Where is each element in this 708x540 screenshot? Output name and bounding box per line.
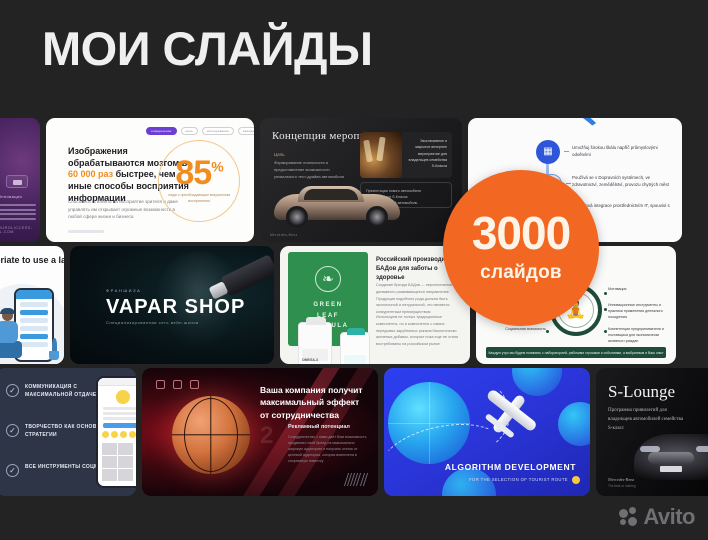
perception-stat-slide[interactable]: определение цель исследование выводы Изо… <box>46 118 254 242</box>
concept-goal-text: Формирование лояльности и предоставление… <box>274 160 348 180</box>
czech-text-2: Používá se v Dopravních systémech, ve zd… <box>572 174 676 189</box>
green-body-1: Создание бренда БАДов — перспективное и … <box>376 282 464 316</box>
smm-checklist-slide[interactable]: ✓ КОММУНИКАЦИЯ С МАКСИМАЛЬНОЙ ОТДАЧЕЙ ✓ … <box>0 368 136 496</box>
algorithm-development-slide[interactable]: ALGORITHM DEVELOPMENT FOR THE SELECTION … <box>384 368 590 496</box>
stripes-decoration <box>346 473 366 486</box>
bottle-1-label: OMEGA-3 <box>302 358 318 362</box>
slides-row-2: appropriate to use a large ent of ve ФРА… <box>0 246 708 364</box>
event-concept-slide[interactable]: Концепция мероприятия Цель Формирование … <box>260 118 462 242</box>
pill-conclusions[interactable]: выводы <box>238 127 254 135</box>
avito-dots-icon <box>619 507 639 527</box>
slides-count-badge: 3000 слайдов <box>443 170 599 326</box>
czech-text-1: Umožňuj širokou škálu napříč průmyslovým… <box>572 144 676 159</box>
stat-ring: 85% люди с преобладающим визуальным восп… <box>158 140 240 222</box>
vk-icon[interactable] <box>173 380 182 389</box>
check-circle-icon: ✓ <box>6 464 19 477</box>
lounge-subtitle: Программа привилегий для владельцев авто… <box>608 406 686 433</box>
pill-definition[interactable]: определение <box>146 127 177 135</box>
sponsorship-heading: Ваша компания получит максимальный эффек… <box>260 384 370 421</box>
facebook-icon[interactable] <box>190 380 199 389</box>
leaf-icon <box>315 266 341 292</box>
concept-card-text: Эксклюзивное и закрытое вечернее меропри… <box>402 132 452 178</box>
vapar-kicker: ФРАНШИЗА <box>106 288 141 293</box>
algorithm-title: ALGORITHM DEVELOPMENT <box>445 462 576 472</box>
plant-icon <box>46 334 62 360</box>
page-title: МОИ СЛАЙДЫ <box>42 25 373 72</box>
avito-watermark: Avito <box>619 504 695 530</box>
mercedes-car-image <box>268 184 406 230</box>
section-number: 2 <box>260 424 273 448</box>
study-footer: Каждую утро мы будем понимать с лаборато… <box>486 347 666 358</box>
mercedes-front-image <box>634 434 708 480</box>
pill-research[interactable]: исследование <box>202 127 234 135</box>
concept-goal-label: Цель <box>274 152 348 157</box>
slides-grid: ны ми Инновации OUROLICCESS-IL.COM опред… <box>0 118 708 500</box>
mobile-illustration-slide[interactable]: appropriate to use a large ent of ve <box>0 246 64 364</box>
concept-goal-box: Цель Формирование лояльности и предостав… <box>274 152 348 180</box>
vapar-shop-slide[interactable]: ФРАНШИЗА VAPAR SHOP Специализированная с… <box>70 246 274 364</box>
stat-caption: люди с преобладающим визуальным восприят… <box>159 193 239 204</box>
factory-icon: ▦ <box>536 140 560 164</box>
section-title: Рекламный потенциал <box>288 424 350 430</box>
perception-footer-bar <box>68 230 104 233</box>
check-circle-icon: ✓ <box>6 384 19 397</box>
lounge-title: S-Lounge <box>608 382 675 402</box>
green-body-2: Используем не только традиционные компон… <box>376 314 464 348</box>
s-lounge-slide[interactable]: S-Lounge Программа привилегий для владел… <box>596 368 708 496</box>
sponsorship-effect-slide[interactable]: Ваша компания получит максимальный эффек… <box>142 368 378 496</box>
purple-gradient-slide[interactable]: ны ми Инновации OUROLICCESS-IL.COM <box>0 118 40 242</box>
vapar-title: VAPAR SHOP <box>106 296 245 319</box>
concept-brand: Mercedes-Benz <box>270 233 298 237</box>
green-leaf-formula-slide[interactable]: GREEN LEAF FORMULA Российский производит… <box>280 246 470 364</box>
avito-wordmark: Avito <box>643 504 695 530</box>
slides-row-1: ны ми Инновации OUROLICCESS-IL.COM опред… <box>0 118 708 242</box>
algorithm-subtitle: FOR THE SELECTION OF TOURIST ROUTE <box>469 477 568 482</box>
mobile-heading: appropriate to use a large <box>0 255 64 266</box>
study-left-3: Социальная значимость <box>482 326 546 332</box>
card-icon <box>6 175 28 188</box>
study-right-1: Мотивация <box>608 286 670 292</box>
stat-number: 85% <box>175 158 222 189</box>
purple-slide-subtitle: Инновации <box>0 194 22 199</box>
purple-slide-url: OUROLICCESS-IL.COM <box>0 226 40 234</box>
person-illustration <box>0 310 28 362</box>
pill-goal[interactable]: цель <box>181 127 198 135</box>
lounge-brand-tagline: The best or nothing <box>608 484 635 488</box>
concept-photo-card: Эксклюзивное и закрытое вечернее меропри… <box>360 132 452 178</box>
basketball-image <box>172 396 250 474</box>
smartphone-mockup <box>96 376 136 488</box>
section-body: Сотрудничество с нами даёт Вам возможнос… <box>288 434 370 465</box>
celebration-photo <box>360 132 402 178</box>
badge-caption: слайдов <box>480 262 562 284</box>
supplement-bottle-2 <box>340 332 370 364</box>
nav-pills: определение цель исследование выводы <box>146 127 254 135</box>
accent-dot <box>572 476 580 484</box>
purple-slide-text-lines <box>0 204 36 222</box>
vapar-subtitle: Специализированная сеть вейп-шопов <box>106 320 199 325</box>
check-circle-icon: ✓ <box>6 424 19 437</box>
slides-row-3: ✓ КОММУНИКАЦИЯ С МАКСИМАЛЬНОЙ ОТДАЧЕЙ ✓ … <box>0 368 708 496</box>
badge-number: 3000 <box>472 212 570 256</box>
slides-promo-page: МОИ СЛАЙДЫ ны ми Инновации OUROLICCESS-I… <box>0 0 708 540</box>
social-icons <box>156 380 199 389</box>
study-right-2: Инновационные инструменты и практики при… <box>608 302 670 320</box>
instagram-icon[interactable] <box>156 380 165 389</box>
study-right-3: Компетенции предпринимателя и поставщика… <box>608 326 670 344</box>
lounge-brand: Mercedes-Benz <box>608 477 634 482</box>
